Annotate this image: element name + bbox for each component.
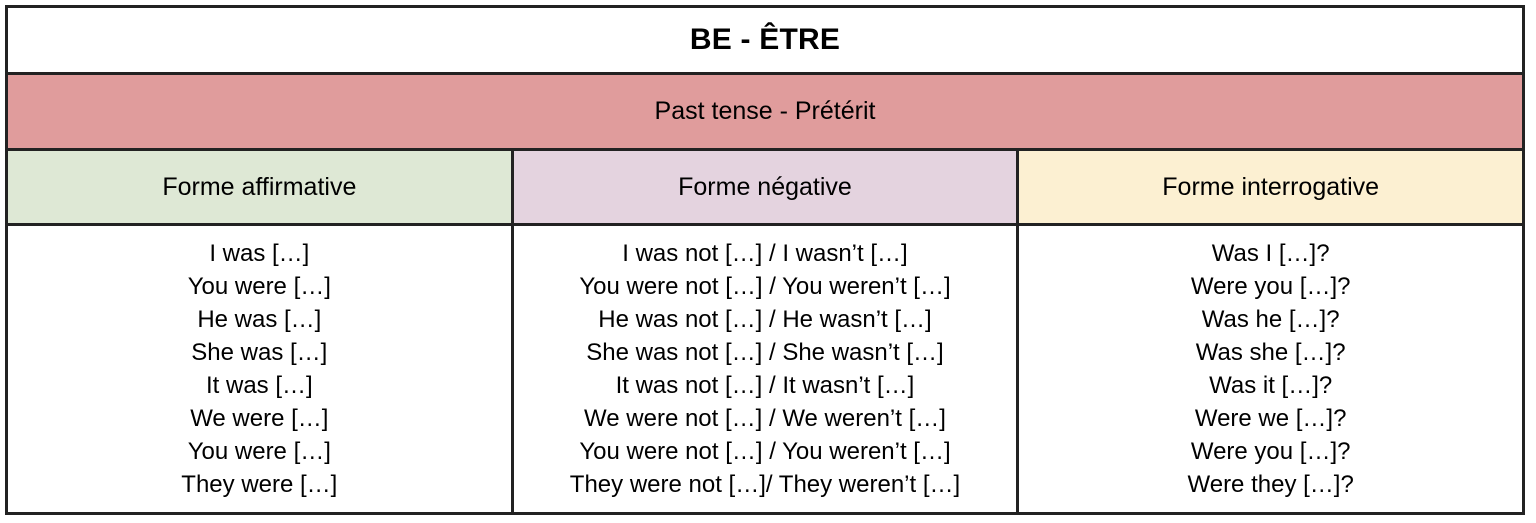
conjugation-table: BE - ÊTRE Past tense - Prétérit Forme af… xyxy=(5,5,1525,515)
form-line: We were […] xyxy=(8,402,511,435)
tense-row: Past tense - Prétérit xyxy=(7,74,1524,150)
form-line: You were not […] / You weren’t […] xyxy=(514,435,1017,468)
forms-row: I was […] You were […] He was […] She wa… xyxy=(7,225,1524,514)
form-line: I was […] xyxy=(8,237,511,270)
form-line: She was […] xyxy=(8,336,511,369)
form-line: They were […] xyxy=(8,468,511,501)
form-line: Was it […]? xyxy=(1019,369,1522,402)
form-line: Was he […]? xyxy=(1019,303,1522,336)
form-line: He was […] xyxy=(8,303,511,336)
title-row: BE - ÊTRE xyxy=(7,7,1524,74)
form-line: We were not […] / We weren’t […] xyxy=(514,402,1017,435)
verb-title: BE - ÊTRE xyxy=(7,7,1524,74)
form-line: He was not […] / He wasn’t […] xyxy=(514,303,1017,336)
forms-cell-negative: I was not […] / I wasn’t […] You were no… xyxy=(512,225,1018,514)
form-line: It was not […] / It wasn’t […] xyxy=(514,369,1017,402)
form-line: Were you […]? xyxy=(1019,270,1522,303)
column-header-interrogative: Forme interrogative xyxy=(1018,150,1524,225)
form-line: It was […] xyxy=(8,369,511,402)
form-line: Were you […]? xyxy=(1019,435,1522,468)
form-line: You were […] xyxy=(8,270,511,303)
form-line: Were they […]? xyxy=(1019,468,1522,501)
form-line: Was she […]? xyxy=(1019,336,1522,369)
form-line: I was not […] / I wasn’t […] xyxy=(514,237,1017,270)
column-header-affirmative: Forme affirmative xyxy=(7,150,513,225)
column-header-negative: Forme négative xyxy=(512,150,1018,225)
forms-cell-interrogative: Was I […]? Were you […]? Was he […]? Was… xyxy=(1018,225,1524,514)
tense-label: Past tense - Prétérit xyxy=(7,74,1524,150)
form-list-affirmative: I was […] You were […] He was […] She wa… xyxy=(8,237,511,501)
form-line: You were not […] / You weren’t […] xyxy=(514,270,1017,303)
form-line: Were we […]? xyxy=(1019,402,1522,435)
column-header-row: Forme affirmative Forme négative Forme i… xyxy=(7,150,1524,225)
forms-cell-affirmative: I was […] You were […] He was […] She wa… xyxy=(7,225,513,514)
form-line: You were […] xyxy=(8,435,511,468)
conjugation-sheet: BE - ÊTRE Past tense - Prétérit Forme af… xyxy=(0,0,1536,523)
form-line: Was I […]? xyxy=(1019,237,1522,270)
form-line: She was not […] / She wasn’t […] xyxy=(514,336,1017,369)
form-list-interrogative: Was I […]? Were you […]? Was he […]? Was… xyxy=(1019,237,1522,501)
form-list-negative: I was not […] / I wasn’t […] You were no… xyxy=(514,237,1017,501)
form-line: They were not […]/ They weren’t […] xyxy=(514,468,1017,501)
